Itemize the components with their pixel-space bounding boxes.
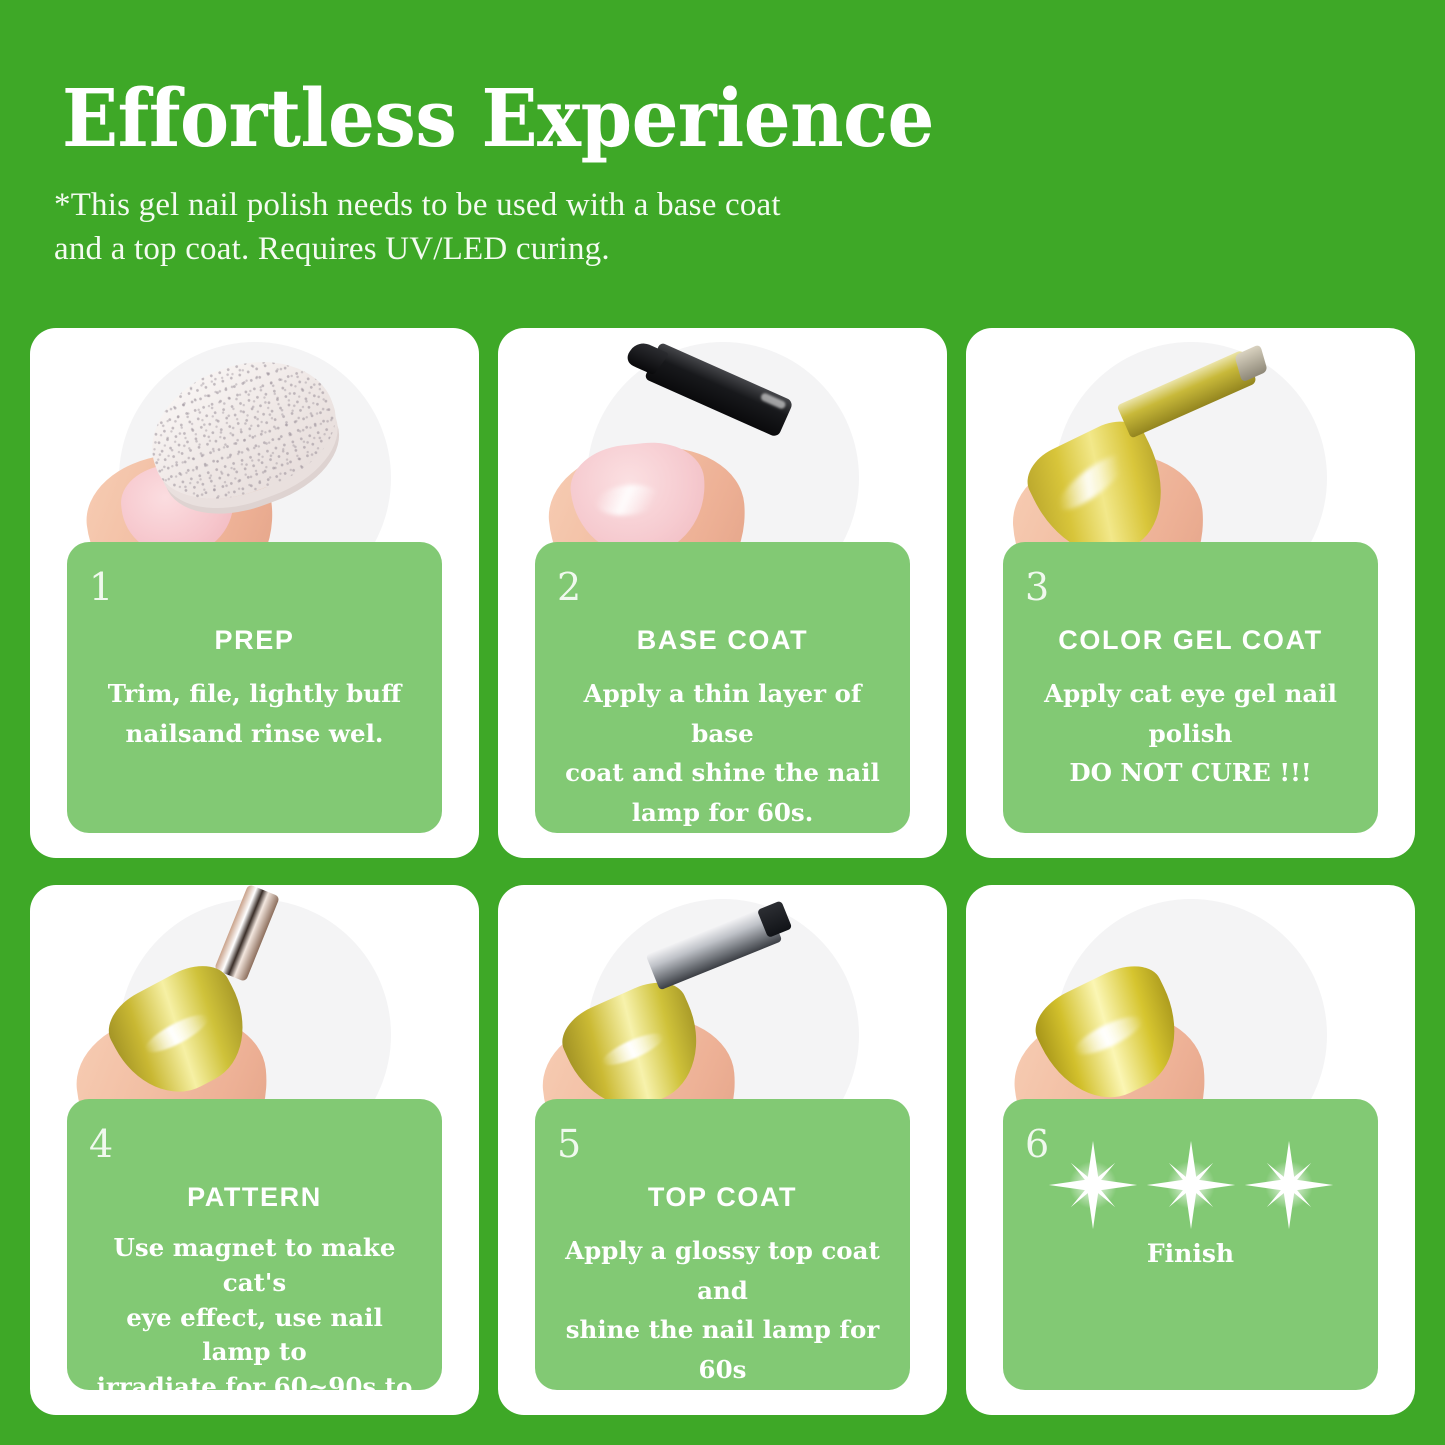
step-description: Finish [1003, 1239, 1378, 1268]
clear-top-coat-brush-shape [646, 906, 783, 991]
step-heading: BASE COAT [535, 625, 910, 656]
step-card-4: 4 PATTERN Use magnet to make cat's eye e… [30, 885, 479, 1415]
nail-gloss-highlight [595, 482, 662, 519]
step-number: 1 [89, 568, 113, 606]
cat-eye-flash-highlight [599, 1028, 667, 1071]
step-description: Apply cat eye gel nail polish DO NOT CUR… [1027, 674, 1354, 793]
sparkle-row [1003, 1139, 1378, 1231]
step-heading: TOP COAT [535, 1182, 910, 1213]
four-pointed-star-sparkle-icon [1243, 1139, 1335, 1231]
gold-polish-brush-shape [1117, 349, 1258, 438]
nail-gloss-highlight [1051, 446, 1133, 518]
step-panel-3: 3 COLOR GEL COAT Apply cat eye gel nail … [1003, 542, 1378, 833]
page-title: Effortless Experience [62, 78, 1276, 158]
black-polish-brush-shape [644, 342, 794, 438]
step-panel-1: 1 PREP Trim, file, lightly buff nailsand… [67, 542, 442, 833]
steps-grid: 1 PREP Trim, file, lightly buff nailsand… [30, 328, 1415, 1415]
step-description: Use magnet to make cat's eye effect, use… [91, 1231, 418, 1415]
step-description: Apply a glossy top coat and shine the na… [559, 1231, 886, 1415]
step-number: 4 [89, 1125, 113, 1163]
step-card-3: 3 COLOR GEL COAT Apply cat eye gel nail … [966, 328, 1415, 858]
step-panel-6: 6 [1003, 1099, 1378, 1390]
step-card-6: 6 [966, 885, 1415, 1415]
step-heading: COLOR GEL COAT [1003, 625, 1378, 656]
step-panel-2: 2 BASE COAT Apply a thin layer of base c… [535, 542, 910, 833]
step-description: Trim, file, lightly buff nailsand rinse … [91, 674, 418, 753]
instruction-infographic: Effortless Experience *This gel nail pol… [0, 0, 1445, 1445]
step-card-2: 2 BASE COAT Apply a thin layer of base c… [498, 328, 947, 858]
step-description: Apply a thin layer of base coat and shin… [559, 674, 886, 833]
four-pointed-star-sparkle-icon [1145, 1139, 1237, 1231]
magnet-stick-shape-top [214, 885, 280, 982]
step-panel-5: 5 TOP COAT Apply a glossy top coat and s… [535, 1099, 910, 1390]
header: Effortless Experience *This gel nail pol… [62, 78, 1382, 271]
four-pointed-star-sparkle-icon [1047, 1139, 1139, 1231]
step-panel-4: 4 PATTERN Use magnet to make cat's eye e… [67, 1099, 442, 1390]
step-card-5: 5 TOP COAT Apply a glossy top coat and s… [498, 885, 947, 1415]
step-card-1: 1 PREP Trim, file, lightly buff nailsand… [30, 328, 479, 858]
step-heading: PATTERN [67, 1182, 442, 1213]
page-subtitle: *This gel nail polish needs to be used w… [54, 184, 1382, 271]
step-number: 2 [557, 568, 581, 606]
cat-eye-flash-highlight [141, 1008, 212, 1059]
step-heading: PREP [67, 625, 442, 656]
step-number: 5 [557, 1125, 581, 1163]
cat-eye-flash-highlight [1070, 1009, 1146, 1061]
step-number: 3 [1025, 568, 1049, 606]
